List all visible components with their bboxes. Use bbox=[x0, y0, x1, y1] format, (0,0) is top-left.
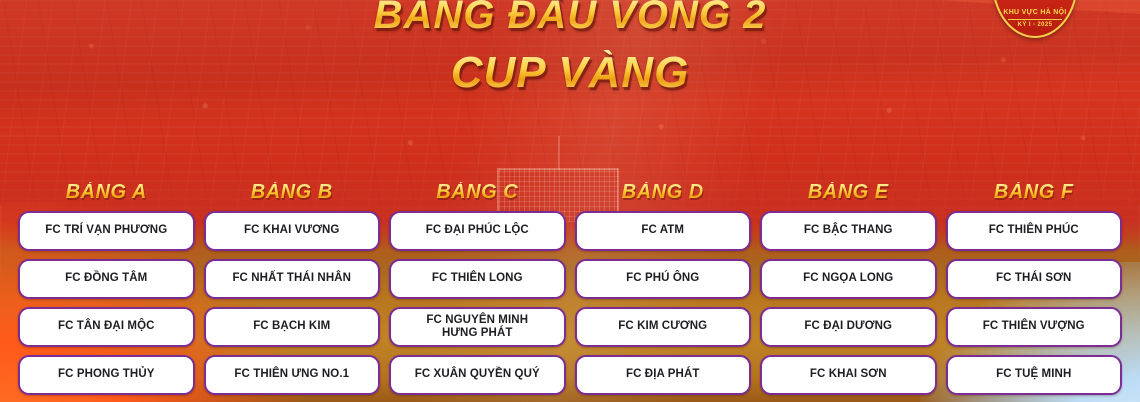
team-list-f: FC THIÊN PHÚC FC THÁI SƠN FC THIÊN VƯỢNG… bbox=[946, 211, 1123, 395]
team-card[interactable]: FC ĐỒNG TÂM bbox=[18, 259, 195, 299]
team-name: FC XUÂN QUYỀN QUÝ bbox=[415, 368, 540, 381]
group-title-f: BẢNG F bbox=[946, 182, 1123, 202]
team-name: FC BẬC THANG bbox=[804, 224, 893, 237]
team-card[interactable]: FC NGUYÊN MINH HƯNG PHÁT bbox=[389, 307, 566, 347]
team-card[interactable]: FC ĐẠI DƯƠNG bbox=[760, 307, 937, 347]
team-list-b: FC KHAI VƯƠNG FC NHẤT THÁI NHÂN FC BẠCH … bbox=[204, 211, 381, 395]
tournament-group-poster: KHU VỰC HÀ NỘI KỲ I - 2025 BẢNG ĐẤU VÒNG… bbox=[0, 0, 1140, 402]
team-card[interactable]: FC BẬC THANG bbox=[760, 211, 937, 251]
team-card[interactable]: FC BẠCH KIM bbox=[204, 307, 381, 347]
team-card[interactable]: FC PHÚ ÔNG bbox=[575, 259, 752, 299]
group-title-a: BẢNG A bbox=[18, 182, 195, 202]
team-card[interactable]: FC TUỆ MINH bbox=[946, 355, 1123, 395]
group-column-e: BẢNG E FC BẬC THANG FC NGỌA LONG FC ĐẠI … bbox=[760, 182, 937, 395]
team-card[interactable]: FC THIÊN VƯỢNG bbox=[946, 307, 1123, 347]
team-card[interactable]: FC PHONG THỦY bbox=[18, 355, 195, 395]
team-name: FC THIÊN ƯNG NO.1 bbox=[234, 368, 349, 381]
team-name: FC TUỆ MINH bbox=[996, 368, 1071, 381]
team-card[interactable]: FC TRÍ VẠN PHƯƠNG bbox=[18, 211, 195, 251]
group-column-d: BẢNG D FC ATM FC PHÚ ÔNG FC KIM CƯƠNG FC… bbox=[575, 182, 752, 395]
team-card[interactable]: FC ĐỊA PHÁT bbox=[575, 355, 752, 395]
team-name: FC THIÊN LONG bbox=[432, 272, 523, 285]
group-column-b: BẢNG B FC KHAI VƯƠNG FC NHẤT THÁI NHÂN F… bbox=[204, 182, 381, 395]
team-name: FC NHẤT THÁI NHÂN bbox=[232, 272, 351, 285]
team-list-a: FC TRÍ VẠN PHƯƠNG FC ĐỒNG TÂM FC TÂN ĐẠI… bbox=[18, 211, 195, 395]
group-column-c: BẢNG C FC ĐẠI PHÚC LỘC FC THIÊN LONG FC … bbox=[389, 182, 566, 395]
group-title-b: BẢNG B bbox=[204, 182, 381, 202]
team-name: FC KIM CƯƠNG bbox=[618, 320, 707, 333]
team-card[interactable]: FC TÂN ĐẠI MỘC bbox=[18, 307, 195, 347]
team-name: FC PHONG THỦY bbox=[58, 368, 155, 381]
team-name: FC TÂN ĐẠI MỘC bbox=[58, 320, 155, 333]
team-card[interactable]: FC NGỌA LONG bbox=[760, 259, 937, 299]
group-column-a: BẢNG A FC TRÍ VẠN PHƯƠNG FC ĐỒNG TÂM FC … bbox=[18, 182, 195, 395]
team-card[interactable]: FC THÁI SƠN bbox=[946, 259, 1123, 299]
team-card[interactable]: FC XUÂN QUYỀN QUÝ bbox=[389, 355, 566, 395]
title-block: BẢNG ĐẤU VÒNG 2 CUP VÀNG bbox=[0, 0, 1140, 96]
team-card[interactable]: FC THIÊN PHÚC bbox=[946, 211, 1123, 251]
team-card[interactable]: FC THIÊN ƯNG NO.1 bbox=[204, 355, 381, 395]
team-name: FC ĐỒNG TÂM bbox=[65, 272, 147, 285]
team-card[interactable]: FC NHẤT THÁI NHÂN bbox=[204, 259, 381, 299]
team-list-c: FC ĐẠI PHÚC LỘC FC THIÊN LONG FC NGUYÊN … bbox=[389, 211, 566, 395]
team-card[interactable]: FC ĐẠI PHÚC LỘC bbox=[389, 211, 566, 251]
team-card[interactable]: FC ATM bbox=[575, 211, 752, 251]
group-column-f: BẢNG F FC THIÊN PHÚC FC THÁI SƠN FC THIÊ… bbox=[946, 182, 1123, 395]
team-name: FC THIÊN VƯỢNG bbox=[983, 320, 1085, 333]
group-title-d: BẢNG D bbox=[575, 182, 752, 202]
team-name: FC ATM bbox=[641, 224, 684, 237]
group-title-e: BẢNG E bbox=[760, 182, 937, 202]
team-name: FC ĐỊA PHÁT bbox=[626, 368, 700, 381]
team-name: FC NGUYÊN MINH HƯNG PHÁT bbox=[426, 314, 528, 340]
team-card[interactable]: FC KIM CƯƠNG bbox=[575, 307, 752, 347]
group-title-c: BẢNG C bbox=[389, 182, 566, 202]
team-name: FC PHÚ ÔNG bbox=[626, 272, 699, 285]
team-name: FC KHAI SƠN bbox=[810, 368, 887, 381]
team-card[interactable]: FC KHAI VƯƠNG bbox=[204, 211, 381, 251]
team-name: FC TRÍ VẠN PHƯƠNG bbox=[45, 224, 167, 237]
team-card[interactable]: FC KHAI SƠN bbox=[760, 355, 937, 395]
team-name: FC THÁI SƠN bbox=[996, 272, 1071, 285]
team-name: FC ĐẠI PHÚC LỘC bbox=[426, 224, 529, 237]
team-name: FC KHAI VƯƠNG bbox=[244, 224, 339, 237]
team-list-e: FC BẬC THANG FC NGỌA LONG FC ĐẠI DƯƠNG F… bbox=[760, 211, 937, 395]
team-card[interactable]: FC THIÊN LONG bbox=[389, 259, 566, 299]
team-list-d: FC ATM FC PHÚ ÔNG FC KIM CƯƠNG FC ĐỊA PH… bbox=[575, 211, 752, 395]
team-name: FC ĐẠI DƯƠNG bbox=[804, 320, 892, 333]
page-subtitle: CUP VÀNG bbox=[0, 50, 1140, 96]
page-title: BẢNG ĐẤU VÒNG 2 bbox=[0, 0, 1140, 36]
team-name: FC BẠCH KIM bbox=[253, 320, 330, 333]
team-name: FC THIÊN PHÚC bbox=[989, 224, 1079, 237]
groups-grid: BẢNG A FC TRÍ VẠN PHƯƠNG FC ĐỒNG TÂM FC … bbox=[18, 182, 1122, 395]
team-name: FC NGỌA LONG bbox=[803, 272, 893, 285]
